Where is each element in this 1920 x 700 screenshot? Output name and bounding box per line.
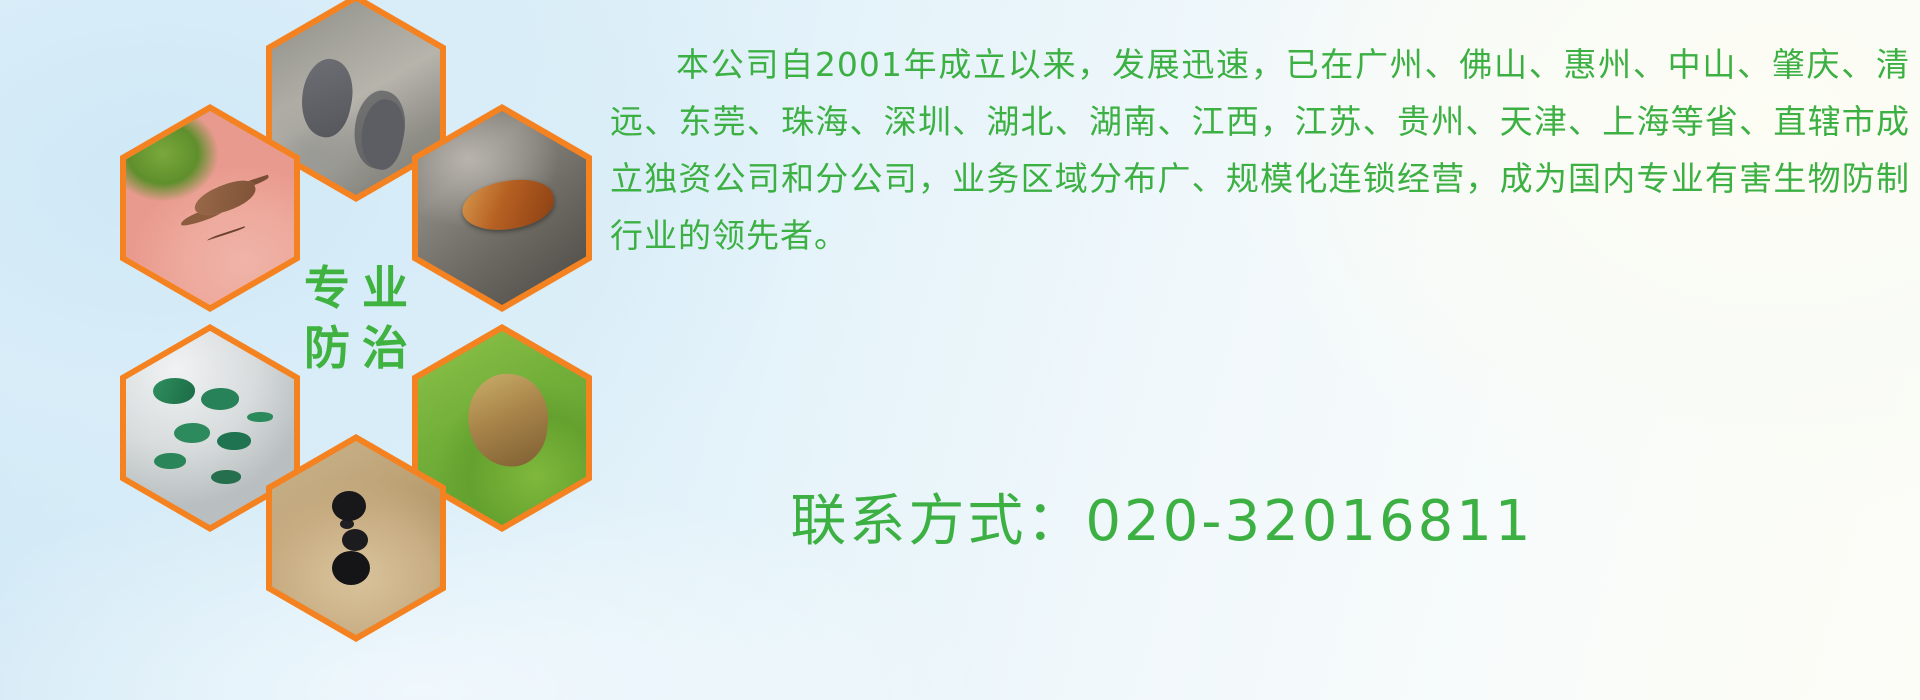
content-column: 本公司自2001年成立以来，发展迅速，已在广州、佛山、惠州、中山、肇庆、清远、东… (610, 0, 1920, 700)
slogan-line-1: 专业 (292, 265, 420, 311)
hex-inner-ant (272, 441, 440, 635)
contact-secondary-line: 159-1588-1110 (624, 642, 1904, 700)
slogan-line-2: 防治 (292, 325, 420, 371)
contact-primary-line: 联系方式：020-32016811 (624, 402, 1904, 642)
contact-block: 联系方式：020-32016811 159-1588-1110 (624, 402, 1904, 700)
ant-photo-icon (272, 441, 440, 635)
company-description-paragraph: 本公司自2001年成立以来，发展迅速，已在广州、佛山、惠州、中山、肇庆、清远、东… (610, 36, 1910, 264)
pest-control-banner: 专业 防治 本公司自2001年成立以来，发展迅速，已在广州、佛山、惠州、中山、肇… (0, 0, 1920, 700)
contact-label: 联系方式： (790, 489, 1085, 554)
honeycomb-collage: 专业 防治 (80, 0, 600, 560)
phone-primary[interactable]: 020-32016811 (1085, 489, 1533, 554)
